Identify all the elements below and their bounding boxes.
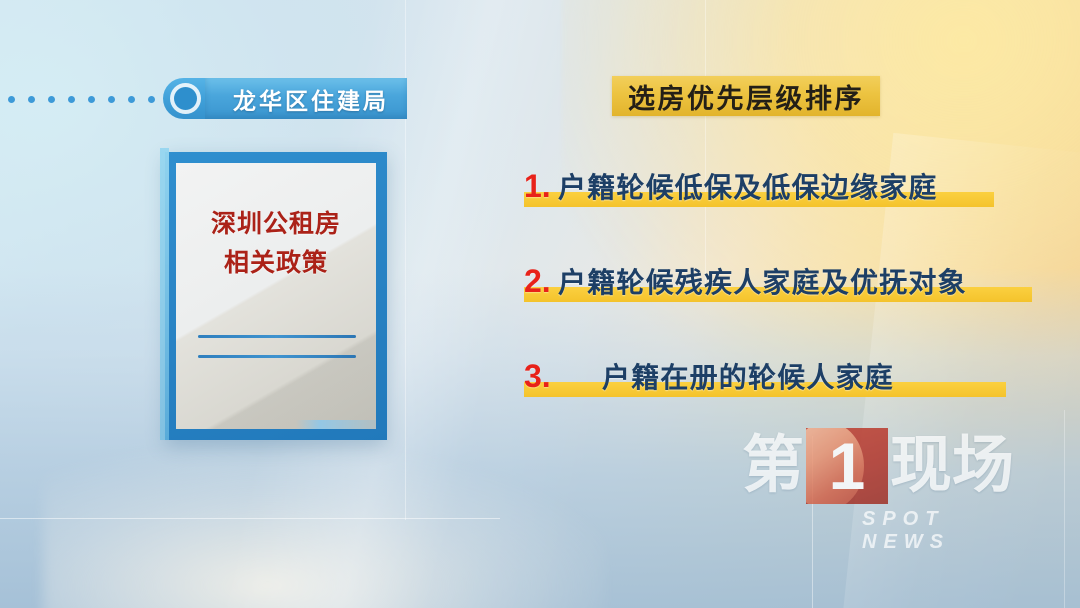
policy-card-title: 深圳公租房 相关政策: [176, 163, 376, 283]
watermark-logo-row: 第 1 现场: [742, 428, 1042, 504]
leader-dot: [148, 96, 155, 103]
source-banner: 龙华区住建局: [163, 78, 407, 119]
policy-card: 深圳公租房 相关政策: [165, 152, 387, 440]
list-item-text: 户籍在册的轮候人家庭: [602, 356, 894, 396]
banner-bar: 龙华区住建局: [205, 78, 407, 119]
background-divider-horizontal: [0, 518, 500, 519]
banner-nub: [163, 78, 207, 119]
policy-card-bottom-highlight: [176, 420, 376, 429]
leader-dot: [108, 96, 115, 103]
headline-text: 选房优先层级排序: [628, 77, 864, 116]
watermark-right-chars: 现场: [890, 435, 1014, 497]
list-item: 2. 户籍轮候残疾人家庭及优抚对象: [524, 255, 1044, 307]
channel-watermark: 第 1 现场 SPOT NEWS: [742, 428, 1042, 540]
watermark-one-digit: 1: [806, 430, 888, 502]
leader-dot: [88, 96, 95, 103]
list-item-number: 3.: [524, 360, 602, 392]
list-item: 3. 户籍在册的轮候人家庭: [524, 350, 1044, 402]
banner-label: 龙华区住建局: [233, 82, 389, 116]
background-divider-vertical-4: [1064, 410, 1065, 608]
list-item-text: 户籍轮候残疾人家庭及优抚对象: [558, 261, 967, 301]
news-graphic-stage: 龙华区住建局 深圳公租房 相关政策 选房优先层级排序 1. 户籍轮候低保及低保边…: [0, 0, 1080, 608]
policy-card-paper: 深圳公租房 相关政策: [176, 163, 376, 429]
watermark-one-badge: 1: [806, 428, 888, 504]
leader-dot: [8, 96, 15, 103]
list-item: 1. 户籍轮候低保及低保边缘家庭: [524, 160, 1044, 212]
policy-card-title-line1: 深圳公租房: [176, 205, 376, 244]
list-item-number: 1.: [524, 170, 558, 202]
list-item-number: 2.: [524, 265, 558, 297]
watermark-subtitle: SPOT NEWS: [742, 508, 1042, 554]
leader-dot: [48, 96, 55, 103]
headline-banner: 选房优先层级排序: [612, 76, 880, 116]
policy-card-title-line2: 相关政策: [176, 244, 376, 283]
priority-list: 1. 户籍轮候低保及低保边缘家庭 2. 户籍轮候残疾人家庭及优抚对象 3. 户籍…: [524, 160, 1044, 445]
watermark-left-char: 第: [742, 435, 804, 497]
circle-node-icon: [174, 87, 197, 110]
leader-dot: [128, 96, 135, 103]
leader-dot: [28, 96, 35, 103]
policy-card-rule: [198, 355, 356, 358]
leader-dot: [68, 96, 75, 103]
policy-card-rule: [198, 335, 356, 338]
policy-card-rules: [198, 335, 356, 358]
list-item-text: 户籍轮候低保及低保边缘家庭: [558, 166, 938, 206]
